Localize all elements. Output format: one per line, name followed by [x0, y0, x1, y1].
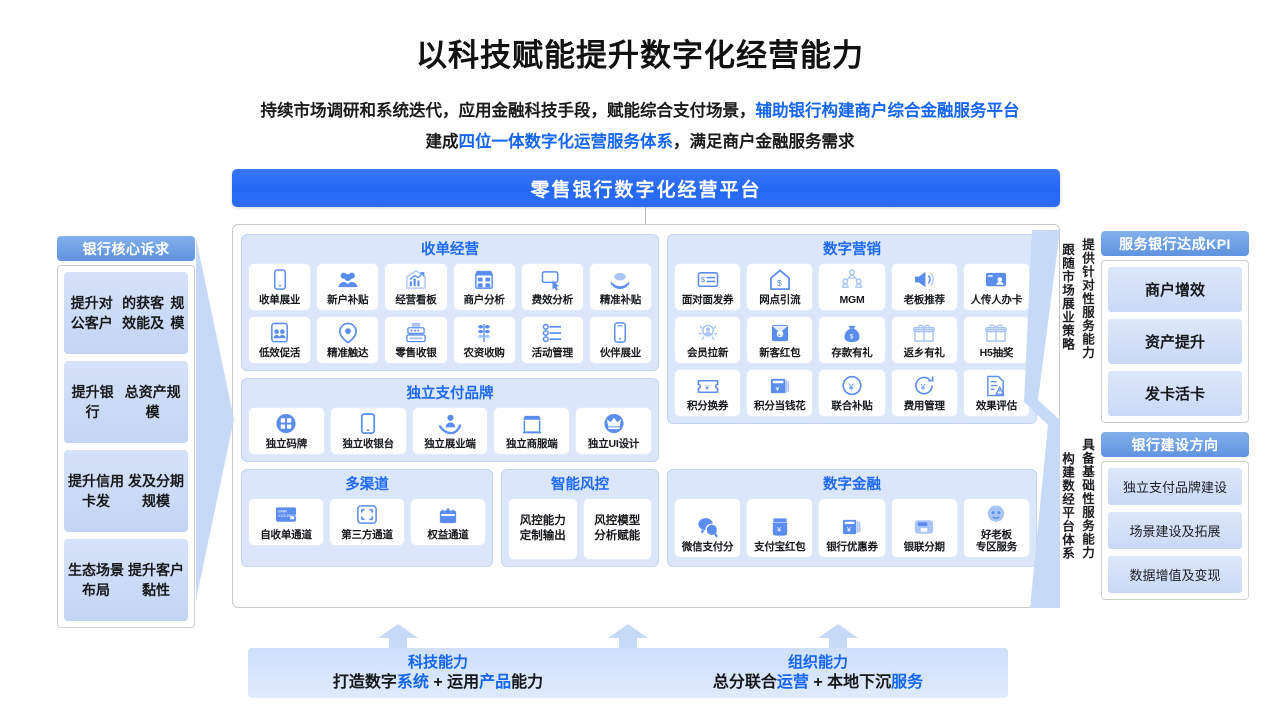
direction-panel: 银行建设方向 独立支付品牌建设 场景建设及拓展 数据增值及变现: [1101, 432, 1249, 600]
tile-multi-channel-0-1[interactable]: 第三方通道: [329, 498, 405, 546]
crown-badge-icon: [603, 413, 625, 435]
capability-org-title: 组织能力: [788, 653, 848, 672]
tile-label: 存款有礼: [831, 347, 872, 359]
tile-row: 收单展业 新户补贴 经营看板 商户分析 费效分析 精准补贴: [248, 263, 652, 311]
group-risk-control-title: 智能风控: [508, 474, 652, 498]
tile-marketing-0-3[interactable]: 老板推荐: [891, 263, 958, 311]
tile-marketing-2-1[interactable]: ¥ 积分当钱花: [746, 369, 813, 417]
group-pay-brand: 独立支付品牌 独立码牌 独立收银台 独立展业端 独立商服端 独立UI设计: [241, 378, 659, 462]
right-column: 数字营销 $ 面对面发券 $ 网点引流 MGM 老板推荐 人传人办卡 会员拉新 …: [667, 234, 1037, 462]
cap1-b-hl: 服务: [891, 674, 923, 691]
tile-label: 权益通道: [427, 529, 468, 541]
kpi-panel-body: 商户增效 资产提升 发卡活卡: [1101, 260, 1249, 423]
cap1-a-hl: 运营: [777, 674, 809, 691]
tile-row: 低效促活 精准触达 零售收银 农资收购 活动管理 伙伴展业: [248, 316, 652, 364]
yen-circle-icon: ¥: [841, 375, 863, 397]
tile-marketing-0-0[interactable]: $ 面对面发券: [674, 263, 741, 311]
tile-label: 精准补贴: [600, 294, 641, 306]
tile-acquiring-0-3[interactable]: 商户分析: [453, 263, 516, 311]
tile-acquiring-1-5[interactable]: 伙伴展业: [589, 316, 652, 364]
kpi-item-3: 发卡活卡: [1108, 371, 1242, 416]
group-multi-channel: 多渠道 BANK0123 4567 8901 自收单通道 第三方通道 权益通道: [241, 469, 493, 567]
tile-row: ¥ 积分换券 ¥ 积分当钱花 ¥ 联合补贴 ¥ 费用管理 效果评估: [674, 369, 1030, 417]
tile-row: 独立码牌 独立收银台 独立展业端 独立商服端 独立UI设计: [248, 407, 652, 455]
tile-label: 独立商服端: [506, 438, 558, 450]
capability-tech-title: 科技能力: [408, 653, 468, 672]
subtitle-line-2: 建成四位一体数字化运营服务体系，满足商户金融服务需求: [0, 128, 1280, 152]
tile-marketing-1-0[interactable]: 会员拉新: [674, 316, 741, 364]
tile-row: BANK0123 4567 8901 自收单通道 第三方通道 权益通道: [248, 498, 486, 546]
cash-register-icon: [405, 322, 427, 344]
cap0-a: 打造数字: [333, 674, 397, 691]
subtitle-line-1-highlight: 辅助银行构建商户综合金融服务平台: [756, 102, 1020, 120]
red-envelope-icon: ¥: [769, 322, 791, 344]
direction-item-1: 独立支付品牌建设: [1108, 468, 1242, 505]
tile-acquiring-1-2[interactable]: 零售收银: [384, 316, 447, 364]
tile-acquiring-0-0[interactable]: 收单展业: [248, 263, 311, 311]
tile-marketing-0-1[interactable]: $ 网点引流: [746, 263, 813, 311]
group-digital-marketing: 数字营销 $ 面对面发券 $ 网点引流 MGM 老板推荐 人传人办卡 会员拉新 …: [667, 234, 1037, 424]
vertical-label-inner-bottom: 具备基础性服务能力: [1080, 438, 1094, 618]
tile-marketing-0-2[interactable]: MGM: [818, 263, 885, 311]
tile-label: 新户补贴: [327, 294, 368, 306]
right-flow-arrow: [1018, 230, 1060, 608]
gift-crown-icon: [437, 504, 459, 526]
tile-label: 低效促活: [259, 347, 300, 359]
direction-item-2: 场景建设及拓展: [1108, 512, 1242, 549]
group-digital-finance: 数字金融 微信支付分 ¥ 支付宝红包 ¥ 银行优惠券 银联分期 好老板专区服务: [667, 469, 1037, 567]
slide-canvas: 以科技赋能提升数字化经营能力 持续市场调研和系统迭代，应用金融科技手段，赋能综合…: [0, 0, 1280, 720]
demand-item-1: 提升对公客户的获客效能及规模: [64, 272, 188, 354]
tile-label: 商户分析: [464, 294, 505, 306]
capability-tech-detail: 打造数字系统 + 运用产品能力: [333, 672, 543, 693]
left-panel-header: 银行核心诉求: [57, 236, 195, 261]
hand-person-icon: [439, 413, 461, 435]
chart-up-icon: [405, 269, 427, 291]
demand-item-2: 提升银行总资产规模: [64, 361, 188, 443]
cap0-a-hl: 系统: [397, 674, 429, 691]
bank-core-demands-panel: 银行核心诉求 提升对公客户的获客效能及规模 提升银行总资产规模 提升信用卡发发及…: [57, 236, 195, 628]
group-pay-brand-title: 独立支付品牌: [248, 383, 652, 407]
tile-label: 独立UI设计: [588, 438, 639, 450]
tile-label: 积分换券: [687, 400, 728, 412]
tile-multi-channel-0-2[interactable]: 权益通道: [410, 498, 486, 546]
tile-label: 新客红包: [759, 347, 800, 359]
subtitle-line-2-prefix: 建成: [426, 133, 459, 151]
boss-face-icon: [985, 504, 1007, 526]
member-star-icon: [697, 322, 719, 344]
subtitle-line-1: 持续市场调研和系统迭代，应用金融科技手段，赋能综合支付场景，辅助银行构建商户综合…: [0, 97, 1280, 121]
kpi-panel-header: 服务银行达成KPI: [1101, 231, 1249, 256]
svg-text:¥: ¥: [705, 383, 710, 392]
tile-label: MGM: [839, 294, 864, 306]
sliders-icon: [541, 322, 563, 344]
tile-label: 微信支付分: [682, 541, 734, 553]
tile-label: 网点引流: [759, 294, 800, 306]
svg-text:$: $: [700, 275, 705, 284]
up-arrow-right: [818, 624, 858, 650]
tile-label: 伙伴展业: [600, 347, 641, 359]
ticket-yen-icon: ¥: [697, 375, 719, 397]
demand-item-3: 提升信用卡发发及分期规模: [64, 450, 188, 532]
tile-label: 精准触达: [327, 347, 368, 359]
tablet-icon: [357, 413, 379, 435]
tile-marketing-1-1[interactable]: ¥ 新客红包: [746, 316, 813, 364]
card-person-icon: [985, 269, 1007, 291]
tile-acquiring-1-1[interactable]: 精准触达: [316, 316, 379, 364]
location-pin-icon: [337, 322, 359, 344]
click-screen-icon: [541, 269, 563, 291]
demand-item-4: 生态场景布局提升客户黏性: [64, 539, 188, 621]
wheat-icon: [473, 322, 495, 344]
kpi-panel: 服务银行达成KPI 商户增效 资产提升 发卡活卡: [1101, 231, 1249, 423]
tile-acquiring-0-4[interactable]: 费效分析: [521, 263, 584, 311]
tile-acquiring-0-5[interactable]: 精准补贴: [589, 263, 652, 311]
group-risk-control: 智能风控 风控能力定制输出风控模型分析赋能: [501, 469, 659, 567]
tile-label: 银行优惠券: [826, 541, 878, 553]
cap0-b2: 能力: [511, 674, 543, 691]
svg-text:¥: ¥: [920, 382, 926, 392]
tile-finance-0-2[interactable]: ¥ 银行优惠券: [818, 498, 885, 558]
tile-pay-brand-0-4[interactable]: 独立UI设计: [575, 407, 652, 455]
report-alert-icon: [985, 375, 1007, 397]
wechat-chat-icon: [697, 516, 719, 538]
tile-label: 独立码牌: [266, 438, 307, 450]
direction-panel-body: 独立支付品牌建设 场景建设及拓展 数据增值及变现: [1101, 461, 1249, 600]
direction-item-3: 数据增值及变现: [1108, 556, 1242, 593]
phone-icon: [609, 322, 631, 344]
tile-finance-0-1[interactable]: ¥ 支付宝红包: [746, 498, 813, 558]
kpi-item-1: 商户增效: [1108, 267, 1242, 312]
tile-pay-brand-0-2[interactable]: 独立展业端: [412, 407, 489, 455]
svg-text:¥: ¥: [778, 333, 781, 339]
tile-label: 积分当钱花: [754, 400, 806, 412]
group-multi-channel-title: 多渠道: [248, 474, 486, 498]
vertical-label-inner-top: 提供针对性服务能力: [1080, 238, 1094, 418]
svg-text:¥: ¥: [847, 526, 851, 534]
tile-label: 第三方通道: [341, 529, 393, 541]
tile-label: 费效分析: [532, 294, 573, 306]
tile-acquiring-1-0[interactable]: 低效促活: [248, 316, 311, 364]
up-arrow-left: [378, 624, 418, 650]
tile-label: 经营看板: [395, 294, 436, 306]
kpi-item-2: 资产提升: [1108, 319, 1242, 364]
left-column: 收单经营 收单展业 新户补贴 经营看板 商户分析 费效分析 精准补贴 低效促活 …: [241, 234, 659, 462]
svg-text:¥: ¥: [777, 526, 781, 534]
cap0-plus: +: [429, 674, 447, 691]
left-panel-body: 提升对公客户的获客效能及规模 提升银行总资产规模 提升信用卡发发及分期规模 生态…: [57, 265, 195, 628]
tile-label: 老板推荐: [904, 294, 945, 306]
cap1-a: 总分联合: [713, 674, 777, 691]
storefront-icon: [473, 269, 495, 291]
tile-pay-brand-0-1[interactable]: 独立收银台: [330, 407, 407, 455]
unionpay-icon: [913, 516, 935, 538]
voucher-icon: $: [697, 269, 719, 291]
tile-label: 会员拉新: [687, 347, 728, 359]
people-network-icon: [841, 269, 863, 291]
users-group-icon: [337, 269, 359, 291]
tile-acquiring-1-4[interactable]: 活动管理: [521, 316, 584, 364]
alipay-jar-icon: ¥: [769, 516, 791, 538]
tile-label: 收单展业: [259, 294, 300, 306]
capability-org-detail: 总分联合运营 + 本地下沉服务: [713, 672, 923, 693]
tile-label: 费用管理: [904, 400, 945, 412]
shop-awning-icon: [521, 413, 543, 435]
tile-label: 独立展业端: [424, 438, 476, 450]
tile-label: 面对面发券: [682, 294, 734, 306]
tile-label: 好老板专区服务: [976, 529, 1017, 553]
scan-frame-icon: [356, 504, 378, 526]
cap0-b-hl: 产品: [479, 674, 511, 691]
group-digital-marketing-title: 数字营销: [674, 239, 1030, 263]
tile-row: $ 面对面发券 $ 网点引流 MGM 老板推荐 人传人办卡: [674, 263, 1030, 311]
vertical-label-outer-bottom: 构建数经平台体系: [1060, 452, 1074, 617]
tile-multi-channel-0-0[interactable]: BANK0123 4567 8901 自收单通道: [248, 498, 324, 546]
tile-label: 农资收购: [464, 347, 505, 359]
tile-pay-brand-0-3[interactable]: 独立商服端: [493, 407, 570, 455]
bank-card-icon: BANK0123 4567 8901: [275, 504, 297, 526]
capability-org: 组织能力 总分联合运营 + 本地下沉服务: [628, 648, 1008, 698]
group-acquiring: 收单经营 收单展业 新户补贴 经营看板 商户分析 费效分析 精准补贴 低效促活 …: [241, 234, 659, 371]
svg-text:0123 4567 8901: 0123 4567 8901: [278, 514, 297, 518]
tile-row: 会员拉新 ¥ 新客红包 $ 存款有礼 返乡有礼 H5抽奖: [674, 316, 1030, 364]
subtitle-line-2-suffix: ，满足商户金融服务需求: [673, 133, 855, 151]
yen-refresh-icon: ¥: [913, 375, 935, 397]
svg-text:$: $: [850, 333, 854, 340]
tile-finance-0-0[interactable]: 微信支付分: [674, 498, 741, 558]
tile-label: 银联分期: [904, 541, 945, 553]
left-flow-arrow: [196, 238, 236, 600]
lucky-draw-icon: [985, 322, 1007, 344]
megaphone-icon: [913, 269, 935, 291]
gift-box-icon: [913, 322, 935, 344]
vertical-label-outer-top: 跟随市场展业策略: [1060, 243, 1074, 408]
tile-label: 支付宝红包: [754, 541, 806, 553]
risk-tile-1[interactable]: 风控能力定制输出: [508, 498, 578, 560]
svg-text:¥: ¥: [847, 382, 854, 393]
platform-banner: 零售银行数字化经营平台: [232, 169, 1060, 207]
qr-code-icon: [275, 413, 297, 435]
up-arrow-middle: [608, 624, 648, 650]
tile-marketing-2-2[interactable]: ¥ 联合补贴: [818, 369, 885, 417]
tile-acquiring-1-3[interactable]: 农资收购: [453, 316, 516, 364]
mobile-users-icon: [269, 322, 291, 344]
group-digital-finance-title: 数字金融: [674, 474, 1030, 498]
tile-label: 零售收银: [395, 347, 436, 359]
subtitle-line-2-highlight: 四位一体数字化运营服务体系: [459, 133, 674, 151]
capability-matrix: 收单经营 收单展业 新户补贴 经营看板 商户分析 费效分析 精准补贴 低效促活 …: [241, 234, 1051, 567]
risk-tile-2[interactable]: 风控模型分析赋能: [583, 498, 653, 560]
tile-label: 人传人办卡: [971, 294, 1023, 306]
tile-label: 联合补贴: [831, 400, 872, 412]
tile-acquiring-0-2[interactable]: 经营看板: [384, 263, 447, 311]
tile-row: 微信支付分 ¥ 支付宝红包 ¥ 银行优惠券 银联分期 好老板专区服务: [674, 498, 1030, 558]
group-acquiring-title: 收单经营: [248, 239, 652, 263]
money-bag-icon: $: [841, 322, 863, 344]
svg-text:$: $: [777, 278, 782, 288]
bank-coupon-icon: ¥: [841, 516, 863, 538]
cap0-b: 运用: [447, 674, 479, 691]
connector-line: [645, 207, 646, 225]
page-title: 以科技赋能提升数字化经营能力: [0, 30, 1280, 75]
house-dollar-icon: $: [769, 269, 791, 291]
capability-tech: 科技能力 打造数字系统 + 运用产品能力: [248, 648, 628, 698]
direction-panel-header: 银行建设方向: [1101, 432, 1249, 457]
capability-bar: 科技能力 打造数字系统 + 运用产品能力 组织能力 总分联合运营 + 本地下沉服…: [248, 648, 1008, 698]
mobile-icon: [269, 269, 291, 291]
svg-text:¥: ¥: [775, 386, 779, 393]
subtitle-line-1-plain: 持续市场调研和系统迭代，应用金融科技手段，赋能综合支付场景，: [261, 102, 756, 120]
tile-marketing-2-3[interactable]: ¥ 费用管理: [891, 369, 958, 417]
hand-coin-icon: [609, 269, 631, 291]
tile-marketing-1-2[interactable]: $ 存款有礼: [818, 316, 885, 364]
tile-label: 自收单通道: [260, 529, 312, 541]
coupon-stack-icon: ¥: [769, 375, 791, 397]
cap1-b: 本地下沉: [827, 674, 891, 691]
tile-marketing-1-3[interactable]: 返乡有礼: [891, 316, 958, 364]
tile-label: 独立收银台: [342, 438, 394, 450]
tile-label: H5抽奖: [980, 347, 1014, 359]
tile-label: 效果评估: [976, 400, 1017, 412]
tile-label: 活动管理: [532, 347, 573, 359]
tile-acquiring-0-1[interactable]: 新户补贴: [316, 263, 379, 311]
cap1-plus: +: [809, 674, 827, 691]
tile-pay-brand-0-0[interactable]: 独立码牌: [248, 407, 325, 455]
tile-marketing-2-0[interactable]: ¥ 积分换券: [674, 369, 741, 417]
tile-finance-0-3[interactable]: 银联分期: [891, 498, 958, 558]
tile-label: 返乡有礼: [904, 347, 945, 359]
